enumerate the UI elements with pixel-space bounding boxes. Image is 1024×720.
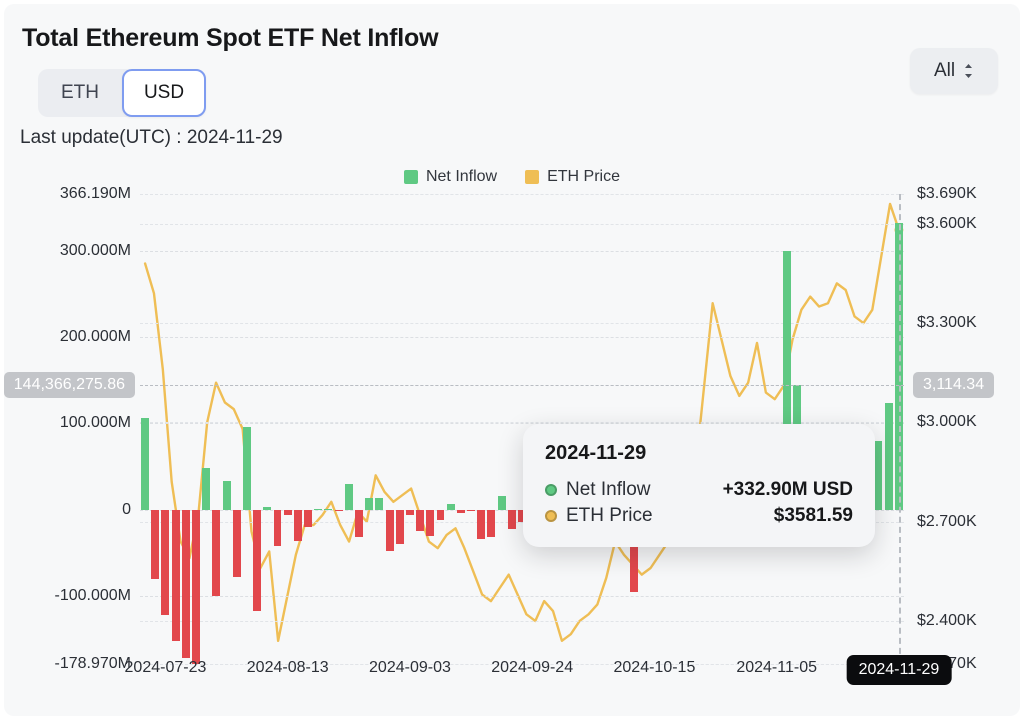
tooltip-row-eth-price: ETH Price $3581.59 <box>545 505 853 527</box>
net-inflow-bar[interactable] <box>345 484 353 510</box>
net-inflow-bar[interactable] <box>202 468 210 509</box>
x-axis-tick: 2024-07-23 <box>125 659 207 677</box>
y-axis-left-tick: -100.000M <box>55 587 132 605</box>
crosshair-vertical <box>899 194 901 664</box>
net-inflow-bar[interactable] <box>335 510 343 511</box>
net-inflow-bar[interactable] <box>885 403 893 510</box>
y-axis-left-tick: 0 <box>122 501 131 519</box>
y-axis-left-tick: 200.000M <box>60 328 131 346</box>
net-inflow-bar[interactable] <box>477 510 485 539</box>
net-inflow-bar[interactable] <box>263 507 271 510</box>
crosshair-badge-left: 144,366,275.86 <box>4 372 135 398</box>
chart-tooltip: 2024-11-29 Net Inflow +332.90M USD ETH P… <box>523 424 875 547</box>
page-title: Total Ethereum Spot ETF Net Inflow <box>22 24 438 53</box>
net-inflow-bar[interactable] <box>212 510 220 596</box>
y-axis-right: $3.690K$3.600K$3.300K$3.000K$2.700K$2.40… <box>909 194 1020 664</box>
currency-toggle-group: ETH USD <box>38 69 206 117</box>
net-inflow-bar[interactable] <box>447 504 455 510</box>
net-inflow-bar[interactable] <box>294 510 302 541</box>
y-axis-right-tick: $3.000K <box>917 413 977 431</box>
last-update-label: Last update(UTC) : 2024-11-29 <box>20 127 283 149</box>
net-inflow-bar[interactable] <box>324 509 332 510</box>
gridline-right <box>140 224 904 225</box>
net-inflow-bar[interactable] <box>151 510 159 579</box>
net-inflow-bar[interactable] <box>355 510 363 538</box>
x-axis: 2024-07-232024-08-132024-09-032024-09-24… <box>140 659 904 689</box>
net-inflow-bar[interactable] <box>274 510 282 546</box>
net-inflow-bar[interactable] <box>365 498 373 510</box>
range-select[interactable]: All <box>910 48 998 94</box>
legend-swatch-eth-price <box>525 170 539 184</box>
crosshair-hline-right <box>140 385 904 386</box>
net-inflow-bar[interactable] <box>192 510 200 664</box>
net-inflow-bar[interactable] <box>426 510 434 536</box>
net-inflow-bar[interactable] <box>875 441 883 510</box>
gridline-right <box>140 194 904 195</box>
legend-label-eth-price: ETH Price <box>547 168 620 186</box>
net-inflow-bar[interactable] <box>467 510 475 512</box>
y-axis-left-tick: -178.970M <box>55 655 132 673</box>
eth-price-dot-icon <box>545 510 557 522</box>
gridline-right <box>140 621 904 622</box>
net-inflow-bar[interactable] <box>182 510 190 658</box>
net-inflow-bar[interactable] <box>386 510 394 551</box>
y-axis-right-tick: $3.300K <box>917 314 977 332</box>
chart-legend: Net Inflow ETH Price <box>4 168 1020 186</box>
net-inflow-bar[interactable] <box>406 510 414 515</box>
net-inflow-bar[interactable] <box>233 510 241 577</box>
net-inflow-bar[interactable] <box>314 509 322 510</box>
y-axis-right-tick: $2.400K <box>917 612 977 630</box>
legend-swatch-net-inflow <box>404 170 418 184</box>
chevron-up-down-glyph <box>963 63 974 79</box>
tab-usd[interactable]: USD <box>122 69 206 117</box>
y-axis-right-tick: $2.700K <box>917 513 977 531</box>
tooltip-date: 2024-11-29 <box>545 442 853 465</box>
x-axis-tick: 2024-11-05 <box>736 659 817 677</box>
y-axis-left: 366.190M300.000M200.000M100.000M0-100.00… <box>4 194 139 664</box>
net-inflow-bar[interactable] <box>253 510 261 612</box>
y-axis-right-tick: $3.600K <box>917 215 977 233</box>
legend-item-net-inflow[interactable]: Net Inflow <box>404 168 497 186</box>
tooltip-value-net-inflow: +332.90M USD <box>723 479 853 501</box>
net-inflow-bar[interactable] <box>223 481 231 509</box>
net-inflow-bar[interactable] <box>457 510 465 513</box>
x-axis-tick: 2024-08-13 <box>247 659 329 677</box>
legend-label-net-inflow: Net Inflow <box>426 168 497 186</box>
x-axis-tick: 2024-09-03 <box>369 659 451 677</box>
range-select-value: All <box>934 60 955 82</box>
legend-item-eth-price[interactable]: ETH Price <box>525 168 620 186</box>
net-inflow-bar[interactable] <box>243 427 251 510</box>
tooltip-label-eth-price: ETH Price <box>566 505 653 527</box>
chart-card: Total Ethereum Spot ETF Net Inflow ETH U… <box>4 4 1020 716</box>
net-inflow-bar[interactable] <box>498 496 506 510</box>
net-inflow-bar[interactable] <box>375 498 383 510</box>
x-axis-cursor-label: 2024-11-29 <box>847 655 952 685</box>
net-inflow-bar[interactable] <box>172 510 180 641</box>
net-inflow-bar[interactable] <box>284 510 292 515</box>
net-inflow-bar[interactable] <box>396 510 404 544</box>
net-inflow-bar[interactable] <box>416 510 424 532</box>
crosshair-badge-right: 3,114.34 <box>913 372 994 398</box>
net-inflow-bar[interactable] <box>141 418 149 509</box>
x-axis-tick: 2024-09-24 <box>491 659 573 677</box>
net-inflow-bar[interactable] <box>304 510 312 527</box>
net-inflow-dot-icon <box>545 484 557 496</box>
tab-eth[interactable]: ETH <box>38 69 122 117</box>
y-axis-left-tick: 300.000M <box>60 242 131 260</box>
y-axis-left-tick: 100.000M <box>60 414 131 432</box>
net-inflow-bar[interactable] <box>437 510 445 520</box>
x-axis-tick: 2024-10-15 <box>614 659 696 677</box>
net-inflow-bar[interactable] <box>508 510 516 529</box>
chevron-up-down-icon <box>963 63 974 79</box>
y-axis-left-tick: 366.190M <box>60 185 131 203</box>
y-axis-right-tick: $3.690K <box>917 185 977 203</box>
tooltip-row-net-inflow: Net Inflow +332.90M USD <box>545 479 853 501</box>
tooltip-label-net-inflow: Net Inflow <box>566 479 650 501</box>
tooltip-value-eth-price: $3581.59 <box>774 505 853 527</box>
net-inflow-bar[interactable] <box>487 510 495 538</box>
net-inflow-bar[interactable] <box>161 510 169 615</box>
